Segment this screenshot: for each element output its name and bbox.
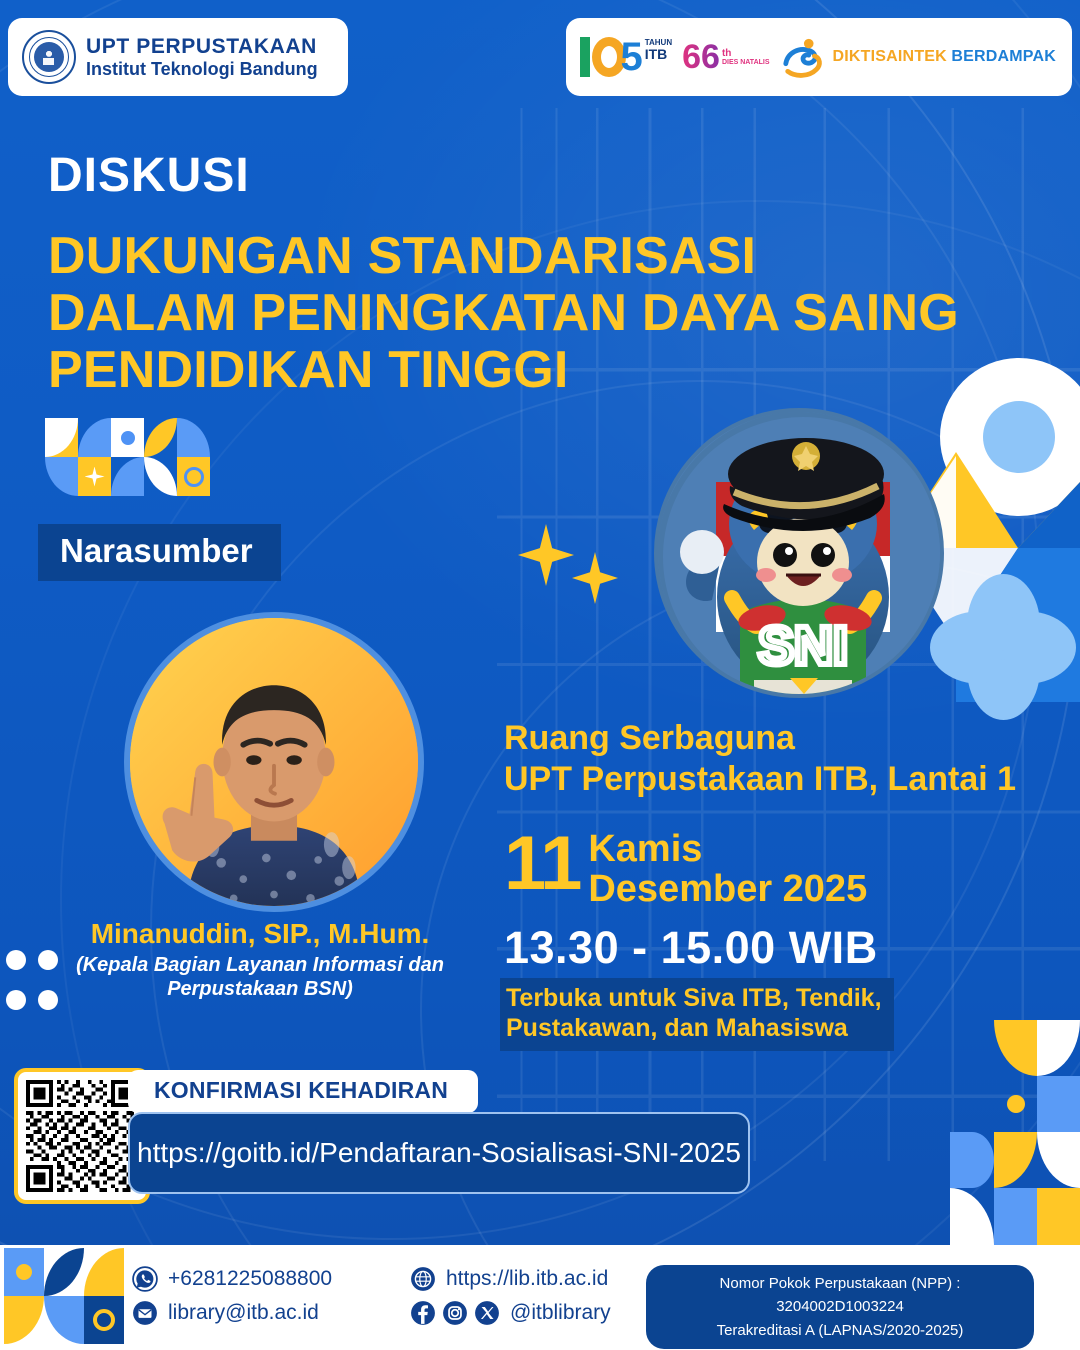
pattern-quarter-yellow-2 [994,1132,1037,1188]
tile-ring-icon [184,467,204,487]
itb-105-caption: TAHUN ITB [645,39,672,62]
speaker-role-line2: Perpustakaan BSN) [20,978,500,1002]
pattern-quarter-yellow [994,1020,1037,1076]
event-date-block: 11 Kamis Desember 2025 [504,828,867,909]
tile-square-dot [111,418,144,457]
itb-105-number: 5 [580,37,642,77]
sparkle-icon-small [572,552,618,604]
footer-social-row[interactable]: @itblibrary [410,1296,611,1330]
qr-code-icon[interactable] [26,1080,138,1192]
dot-icon [6,950,26,970]
audience-line-2: Pustakawan, dan Mahasiswa [506,1014,882,1044]
registration-label: KONFIRMASI KEHADIRAN [128,1070,478,1113]
decorative-petal-flower [930,574,1076,720]
dies-natalis-text: DIES NATALIS [722,59,770,66]
footer-contact-column-1: +6281225088800 library@itb.ac.id [132,1262,332,1330]
mascot-shirt-text: SNI [758,616,848,676]
diktisaintek-text: DIKTISAINTEK BERDAMPAK [833,49,1056,66]
partner-logos-card: 5 TAHUN ITB 66 th DIES NATALIS [566,18,1072,96]
footer-tile-quarter-blue [44,1296,84,1344]
speaker-role: (Kepala Bagian Layanan Informasi dan Per… [20,954,500,1001]
library-name-line1: UPT PERPUSTAKAAN [86,35,318,59]
diktisaintek-swoosh-icon [780,35,826,79]
bottom-right-pattern [950,1020,1080,1245]
footer-email-text: library@itb.ac.id [168,1301,319,1325]
pattern-solid-yellow [1037,1188,1080,1245]
petal-icon [930,611,1003,684]
diktisaintek-logo: DIKTISAINTEK BERDAMPAK [780,35,1056,79]
venue-line-1: Ruang Serbaguna [504,718,1044,759]
dot-icon [6,990,26,1010]
pattern-quarter-white [1037,1020,1080,1076]
email-icon [132,1300,158,1326]
sparkle-icon [85,467,105,487]
tile-leaf-yellow [45,418,78,457]
globe-icon [410,1266,436,1292]
dies-natalis-logo: 66 th DIES NATALIS [682,42,769,72]
dot-icon [16,1264,32,1280]
tile-leaf-white [144,457,177,496]
footer-tile-leaf-navy [44,1248,84,1296]
pattern-quarter-white-2 [1037,1132,1080,1188]
footer-social-text: @itblibrary [510,1301,611,1325]
petal-icon [1003,611,1076,684]
event-date-text: Kamis Desember 2025 [588,828,867,909]
sni-mascot: SNI [654,408,944,698]
speaker-role-line1: (Kepala Bagian Layanan Informasi dan [20,954,500,978]
npp-line-2: Terakreditasi A (LAPNAS/2020-2025) [656,1319,1024,1342]
audience-line-1: Terbuka untuk Siva ITB, Tendik, [506,984,882,1014]
footer-tile-quarter-yellow-2 [4,1296,44,1344]
facebook-icon[interactable] [410,1300,436,1326]
npp-line-1: Nomor Pokok Perpustakaan (NPP) : 3204002… [656,1272,1024,1319]
itb-105-logo: 5 TAHUN ITB [580,37,672,77]
decorative-tile-grid [45,418,210,496]
speaker-badge: Narasumber [38,524,281,581]
poster-title: DUKUNGAN STANDARISASI DALAM PENINGKATAN … [48,228,1048,400]
itb-seal-icon [22,30,76,84]
event-date-number: 11 [504,828,580,901]
tile-leaf-yellow-2 [144,418,177,457]
sparkle-icon-large [518,524,574,586]
dies-label: th DIES NATALIS [722,48,770,67]
dot-icon [38,990,58,1010]
event-month-year: Desember 2025 [588,869,867,909]
npp-badge: Nomor Pokok Perpustakaan (NPP) : 3204002… [646,1265,1034,1349]
footer-decoration [4,1248,124,1344]
itb-105-bar-icon [580,37,590,77]
social-icon-group [410,1300,500,1326]
pattern-cell [950,1020,994,1076]
tile-quarter-blue-3 [45,457,78,496]
pattern-dot [994,1076,1037,1132]
instagram-icon[interactable] [442,1300,468,1326]
dot-icon [38,950,58,970]
sni-mascot-illustration: SNI [658,412,944,698]
diktisaintek-line2: BERDAMPAK [951,48,1056,65]
whatsapp-icon [132,1266,158,1292]
footer-tile-ring [84,1296,124,1344]
venue-block: Ruang Serbaguna UPT Perpustakaan ITB, La… [504,718,1044,801]
title-line-3: PENDIDIKAN TINGGI [48,342,1048,399]
title-line-1: DUKUNGAN STANDARISASI [48,228,1048,285]
event-audience: Terbuka untuk Siva ITB, Tendik, Pustakaw… [500,978,894,1051]
tile-square-star [78,457,111,496]
pattern-quarter-white-3 [950,1188,994,1245]
pattern-quarter-blue [950,1132,994,1188]
pattern-solid-blue-2 [994,1188,1037,1245]
pattern-cell [950,1076,994,1132]
venue-line-2: UPT Perpustakaan ITB, Lantai 1 [504,759,1044,800]
title-line-2: DALAM PENINGKATAN DAYA SAING [48,285,1048,342]
footer-email-row[interactable]: library@itb.ac.id [132,1296,332,1330]
footer-tile-quarter-yellow [84,1248,124,1296]
speaker-name: Minanuddin, SIP., M.Hum. [0,918,520,950]
footer-website-text: https://lib.itb.ac.id [446,1267,608,1291]
event-time: 13.30 - 15.00 WIB [504,922,878,974]
tile-quarter-blue-4 [111,457,144,496]
pattern-solid-blue [1037,1076,1080,1132]
event-day-name: Kamis [588,830,867,869]
poster-root: UPT PERPUSTAKAAN Institut Teknologi Band… [0,0,1080,1350]
dies-number: 66 [682,42,720,72]
library-name-line2: Institut Teknologi Bandung [86,59,318,79]
tile-quarter-blue [78,418,111,457]
itb-105-itb: ITB [645,47,672,62]
tile-dot-icon [121,431,135,445]
registration-url[interactable]: https://goitb.id/Pendaftaran-Sosialisasi… [128,1112,750,1194]
library-logo-text: UPT PERPUSTAKAAN Institut Teknologi Band… [86,35,318,79]
footer-phone-row[interactable]: +6281225088800 [132,1262,332,1296]
ring-icon [93,1309,115,1331]
diktisaintek-line1: DIKTISAINTEK [833,48,947,65]
dot-icon [1007,1095,1025,1113]
library-logo-card: UPT PERPUSTAKAAN Institut Teknologi Band… [8,18,348,96]
speaker-photo [124,612,424,912]
kicker-label: DISKUSI [48,148,250,203]
speaker-portrait-illustration [130,618,418,906]
footer-contact-column-2: https://lib.itb.ac.id @itblibrary [410,1262,611,1330]
footer-phone-text: +6281225088800 [168,1267,332,1291]
itb-105-digit: 5 [620,39,642,75]
footer-website-row[interactable]: https://lib.itb.ac.id [410,1262,611,1296]
x-twitter-icon[interactable] [474,1300,500,1326]
tile-square-ring [177,457,210,496]
itb-seal-emblem [34,42,64,72]
dies-th: th [722,48,770,59]
footer-tile-square-blue [4,1248,44,1296]
tile-quarter-blue-2 [177,418,210,457]
decorative-dots [6,950,70,1030]
